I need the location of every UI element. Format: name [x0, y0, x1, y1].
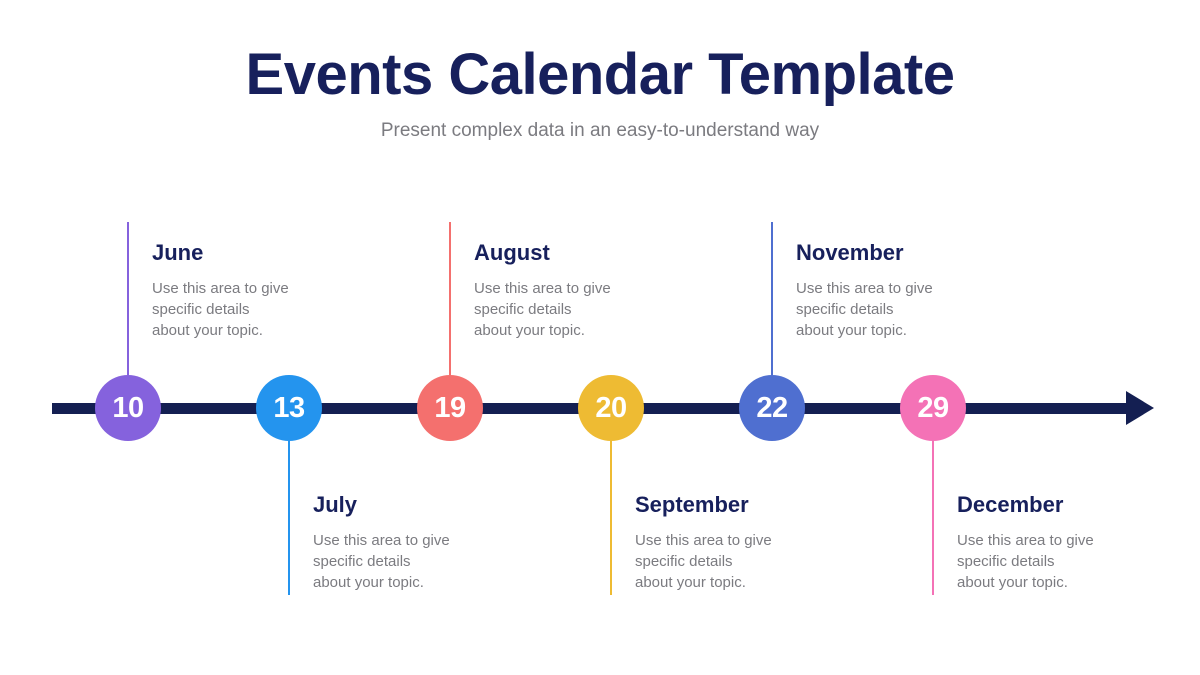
- milestone-description: Use this area to givespecific detailsabo…: [474, 279, 704, 341]
- milestone-description-line: Use this area to give: [635, 531, 865, 552]
- milestone-connector-line: [932, 441, 934, 595]
- milestone-day-marker[interactable]: 19: [417, 375, 483, 441]
- milestone-description: Use this area to givespecific detailsabo…: [152, 279, 382, 341]
- milestone-month-label: September: [635, 492, 865, 518]
- milestone-day-marker[interactable]: 13: [256, 375, 322, 441]
- page-subtitle: Present complex data in an easy-to-under…: [0, 119, 1200, 144]
- milestone-text-block: SeptemberUse this area to givespecific d…: [635, 492, 865, 593]
- milestone-text-block: NovemberUse this area to givespecific de…: [796, 240, 1026, 341]
- milestone-description-line: specific details: [152, 300, 382, 321]
- milestone-description-line: specific details: [313, 552, 543, 573]
- milestone-description-line: about your topic.: [796, 321, 1026, 342]
- milestone-description-line: specific details: [957, 552, 1187, 573]
- milestone-month-label: December: [957, 492, 1187, 518]
- milestone-description: Use this area to givespecific detailsabo…: [957, 531, 1187, 593]
- milestone-day-marker[interactable]: 20: [578, 375, 644, 441]
- slide-canvas: Events Calendar Template Present complex…: [0, 0, 1200, 675]
- milestone-connector-line: [771, 222, 773, 375]
- milestone-connector-line: [127, 222, 129, 375]
- milestone-day-marker[interactable]: 22: [739, 375, 805, 441]
- milestone-month-label: November: [796, 240, 1026, 266]
- milestone-description-line: about your topic.: [635, 573, 865, 594]
- milestone-day-marker[interactable]: 29: [900, 375, 966, 441]
- milestone-text-block: DecemberUse this area to givespecific de…: [957, 492, 1187, 593]
- milestone-description-line: specific details: [474, 300, 704, 321]
- milestone-day-marker[interactable]: 10: [95, 375, 161, 441]
- milestone-text-block: JuneUse this area to givespecific detail…: [152, 240, 382, 341]
- milestone-description-line: Use this area to give: [474, 279, 704, 300]
- milestone-month-label: August: [474, 240, 704, 266]
- milestone-month-label: June: [152, 240, 382, 266]
- milestone-description-line: about your topic.: [152, 321, 382, 342]
- milestone-description: Use this area to givespecific detailsabo…: [313, 531, 543, 593]
- milestone-description-line: Use this area to give: [957, 531, 1187, 552]
- milestone-description-line: Use this area to give: [313, 531, 543, 552]
- milestone-description-line: specific details: [796, 300, 1026, 321]
- milestone-month-label: July: [313, 492, 543, 518]
- page-title: Events Calendar Template: [0, 44, 1200, 107]
- slide-header: Events Calendar Template Present complex…: [0, 44, 1200, 143]
- milestone-description: Use this area to givespecific detailsabo…: [635, 531, 865, 593]
- milestone-connector-line: [288, 441, 290, 595]
- milestone-connector-line: [449, 222, 451, 375]
- milestone-text-block: AugustUse this area to givespecific deta…: [474, 240, 704, 341]
- arrow-right-icon: [1126, 391, 1154, 425]
- milestone-description-line: about your topic.: [957, 573, 1187, 594]
- milestone-description-line: about your topic.: [474, 321, 704, 342]
- milestone-description: Use this area to givespecific detailsabo…: [796, 279, 1026, 341]
- milestone-connector-line: [610, 441, 612, 595]
- milestone-description-line: specific details: [635, 552, 865, 573]
- milestone-description-line: about your topic.: [313, 573, 543, 594]
- milestone-text-block: JulyUse this area to givespecific detail…: [313, 492, 543, 593]
- milestone-description-line: Use this area to give: [152, 279, 382, 300]
- milestone-description-line: Use this area to give: [796, 279, 1026, 300]
